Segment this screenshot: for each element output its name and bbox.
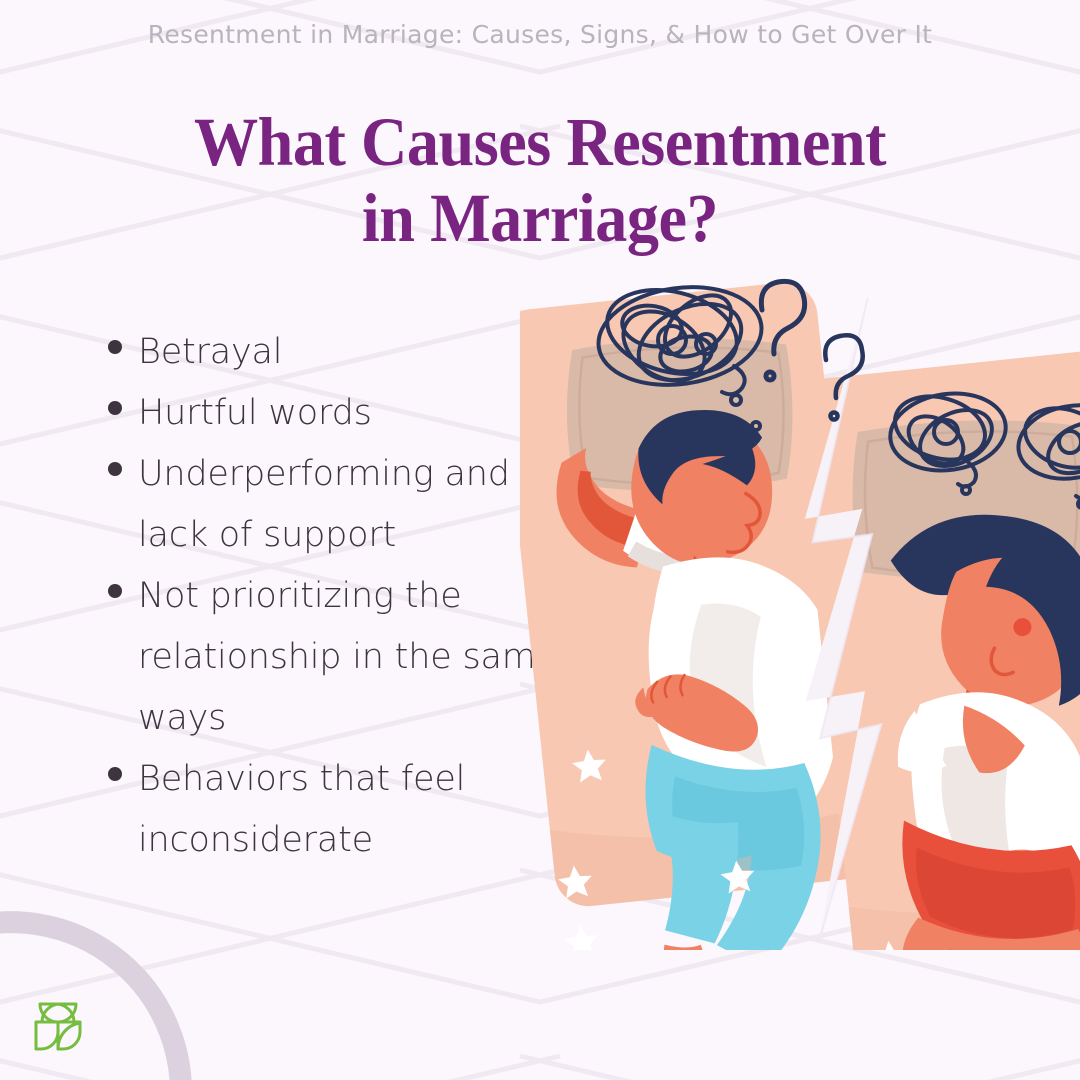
list-item: Betrayal <box>108 322 578 383</box>
bullet-dot-icon <box>108 767 122 781</box>
list-item: Underperforming and lack of support <box>108 444 578 566</box>
list-item-label: Betrayal <box>138 322 282 383</box>
couple-separate-beds-illustration <box>520 250 1080 950</box>
lotus-leaf-icon[interactable] <box>26 994 90 1058</box>
bullet-dot-icon <box>108 584 122 598</box>
bullet-dot-icon <box>108 401 122 415</box>
page-title-line-2: in Marriage? <box>38 180 1042 256</box>
list-item: Behaviors that feel inconsiderate <box>108 749 578 871</box>
list-item-label: Underperforming and lack of support <box>138 444 578 566</box>
causes-list: Betrayal Hurtful words Underperforming a… <box>108 322 578 871</box>
list-item-label: Hurtful words <box>138 383 372 444</box>
bullet-dot-icon <box>108 462 122 476</box>
list-item-label: Not prioritizing the relationship in the… <box>138 566 578 749</box>
star-icon <box>563 924 600 950</box>
page-title-line-1: What Causes Resentment <box>38 104 1042 180</box>
list-item-label: Behaviors that feel inconsiderate <box>138 749 578 871</box>
list-item: Not prioritizing the relationship in the… <box>108 566 578 749</box>
page-title: What Causes Resentment in Marriage? <box>38 104 1042 256</box>
infographic-canvas: Resentment in Marriage: Causes, Signs, &… <box>0 0 1080 1080</box>
page-eyebrow-title: Resentment in Marriage: Causes, Signs, &… <box>0 20 1080 49</box>
left-foot-1 <box>662 941 707 950</box>
bullet-dot-icon <box>108 340 122 354</box>
list-item: Hurtful words <box>108 383 578 444</box>
